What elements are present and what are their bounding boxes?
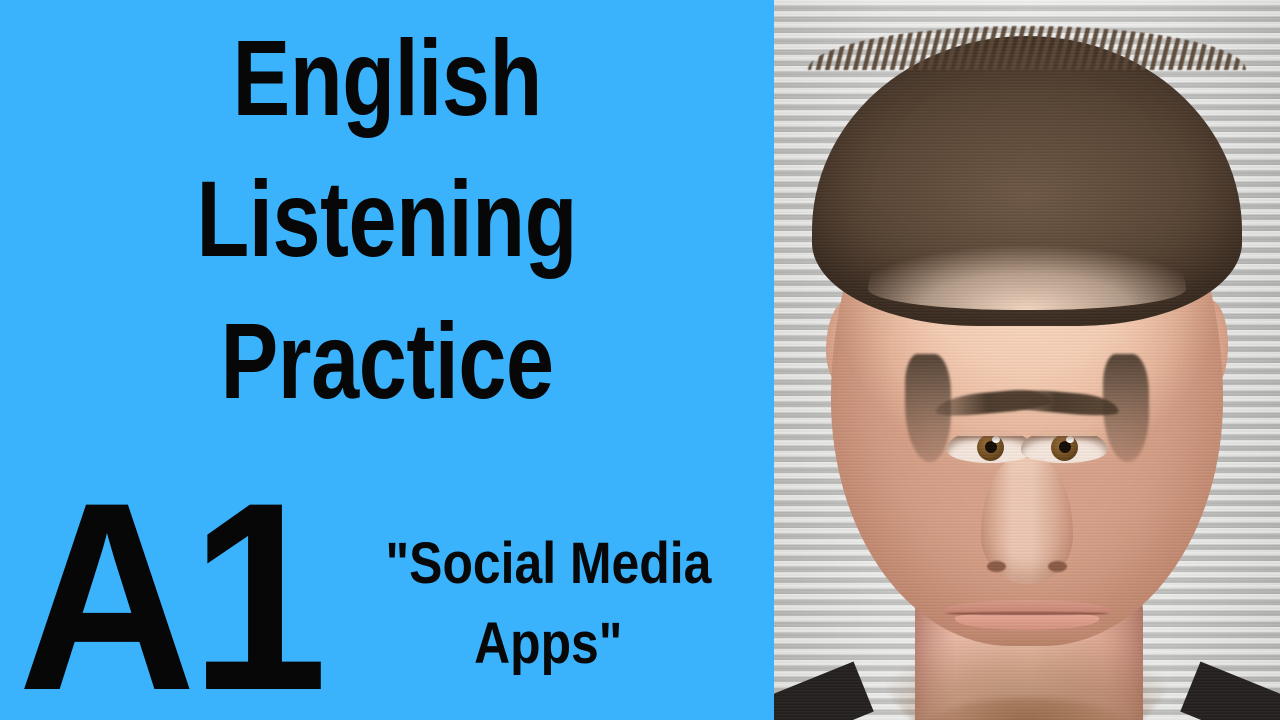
eye-glint-left bbox=[992, 436, 1000, 443]
mouth bbox=[943, 594, 1111, 634]
subtitle-line-2-text: Apps" bbox=[474, 604, 622, 684]
lip-lower bbox=[955, 613, 1099, 630]
level-badge: A1 bbox=[18, 462, 349, 720]
sideburn-right bbox=[1103, 354, 1149, 462]
sideburn-left bbox=[905, 354, 951, 462]
subtitle-line-1: "Social Media bbox=[330, 524, 766, 604]
title-line-english: English bbox=[0, 24, 774, 132]
left-blue-panel: English Listening Practice A1 "Social Me… bbox=[0, 0, 774, 720]
iris-right bbox=[1051, 434, 1078, 461]
iris-left bbox=[977, 434, 1004, 461]
subtitle: "Social Media Apps" bbox=[330, 524, 766, 684]
presenter-photo bbox=[774, 0, 1280, 720]
title-line-listening: Listening bbox=[0, 165, 774, 273]
subtitle-line-2: Apps" bbox=[330, 604, 766, 684]
title-line-practice-text: Practice bbox=[220, 307, 553, 415]
title-line-listening-text: Listening bbox=[197, 165, 577, 273]
title-line-practice: Practice bbox=[0, 307, 774, 415]
title-line-english-text: English bbox=[232, 24, 541, 132]
lip-line bbox=[945, 612, 1109, 615]
subtitle-line-1-text: "Social Media bbox=[385, 524, 711, 604]
level-badge-text: A1 bbox=[18, 462, 322, 720]
eyelid-right bbox=[1021, 430, 1107, 436]
eye-glint-right bbox=[1066, 436, 1074, 443]
youtube-thumbnail: English Listening Practice A1 "Social Me… bbox=[0, 0, 1280, 720]
